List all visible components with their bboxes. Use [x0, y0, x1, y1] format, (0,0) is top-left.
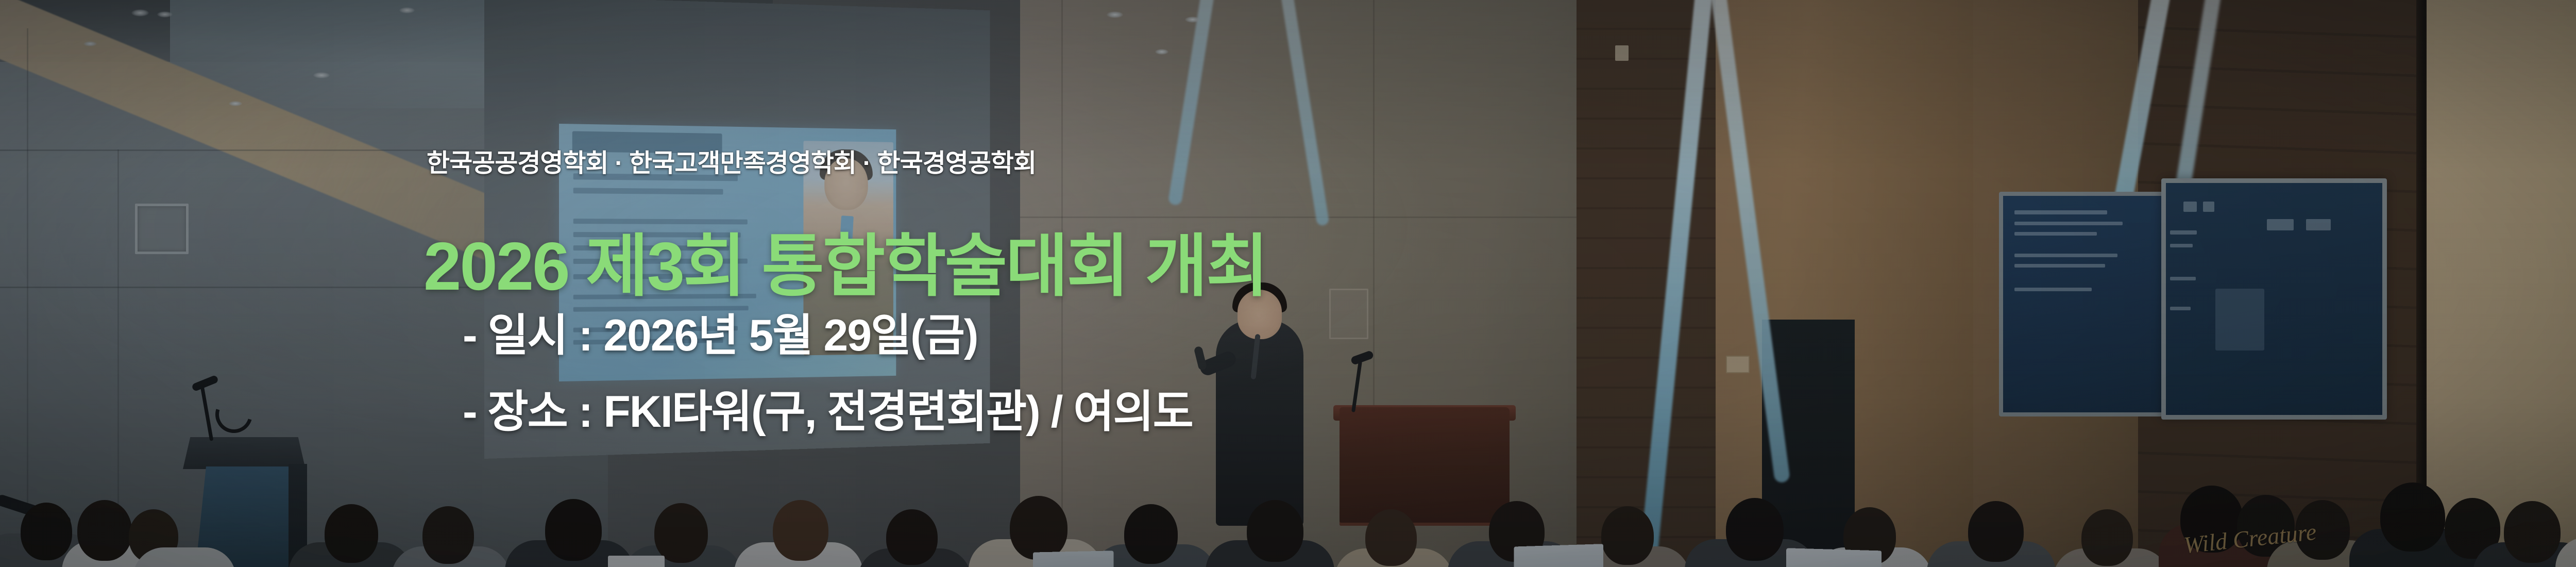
photo-vignette [0, 0, 2576, 567]
banner-image: Wild Creature 한국공공경영학회 · 한국고객만족경영학회 · 한국… [0, 0, 2576, 567]
